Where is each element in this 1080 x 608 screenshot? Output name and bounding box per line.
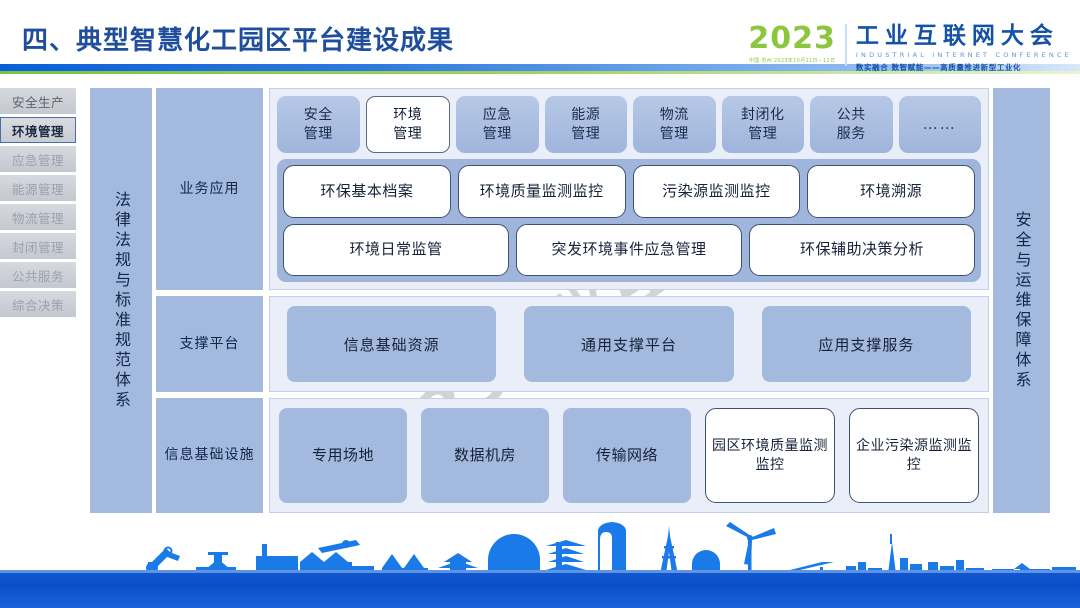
infrastructure-box-3[interactable]: 园区环境质量监测监控	[705, 408, 835, 503]
row-label-infrastructure: 信息基础设施	[156, 398, 263, 513]
infrastructure-box-2[interactable]: 传输网络	[563, 408, 691, 503]
sea-band	[0, 570, 1080, 608]
tab-5[interactable]: 封闭化管理	[722, 96, 805, 153]
business-module-panel: 环保基本档案环境质量监测监控污染源监测监控环境溯源环境日常监管突发环境事件应急管…	[277, 159, 981, 282]
right-pillar: 安全与运维保障体系	[993, 88, 1050, 513]
tab-0[interactable]: 安全管理	[277, 96, 360, 153]
row-infrastructure: 信息基础设施 专用场地数据机房传输网络园区环境质量监测监控企业污染源监测监控	[156, 398, 989, 513]
left-pillar-label: 法律法规与标准规范体系	[113, 191, 129, 411]
diagram-rows: 业务应用 安全管理环境管理应急管理能源管理物流管理封闭化管理公共服务…… 环保基…	[156, 88, 989, 513]
tab-3[interactable]: 能源管理	[545, 96, 628, 153]
tab-6[interactable]: 公共服务	[810, 96, 893, 153]
sidebar-item-0[interactable]: 安全生产	[0, 88, 76, 114]
logo-year: 2023	[748, 24, 836, 54]
sidebar-item-1[interactable]: 环境管理	[0, 117, 76, 143]
right-pillar-label: 安全与运维保障体系	[1014, 211, 1030, 391]
row-body-business: 安全管理环境管理应急管理能源管理物流管理封闭化管理公共服务…… 环保基本档案环境…	[269, 88, 989, 290]
domain-tabs[interactable]: 安全管理环境管理应急管理能源管理物流管理封闭化管理公共服务……	[277, 96, 981, 153]
sidebar-menu[interactable]: 安全生产环境管理应急管理能源管理物流管理封闭管理公共服务综合决策	[0, 88, 76, 320]
architecture-diagram: 法律法规与标准规范体系 安全与运维保障体系 业务应用 安全管理环境管理应急管理能…	[90, 88, 1050, 513]
conference-logo: 2023 中国·苏州 2023年10月11日－12日 工业互联网大会 INDUS…	[748, 24, 1072, 70]
slide-header: 四、典型智慧化工园区平台建设成果 2023 中国·苏州 2023年10月11日－…	[0, 0, 1080, 72]
business-module-0-1[interactable]: 环境质量监测监控	[458, 165, 626, 218]
tab-1[interactable]: 环境管理	[366, 96, 451, 153]
row-body-infrastructure: 专用场地数据机房传输网络园区环境质量监测监控企业污染源监测监控	[269, 398, 989, 513]
sidebar-item-7[interactable]: 综合决策	[0, 291, 76, 317]
business-module-1-1[interactable]: 突发环境事件应急管理	[516, 224, 742, 277]
logo-name-cn: 工业互联网大会	[856, 24, 1072, 49]
logo-slogan: 数实融合 数智赋能——高质量推进新型工业化	[856, 62, 1072, 73]
row-business-application: 业务应用 安全管理环境管理应急管理能源管理物流管理封闭化管理公共服务…… 环保基…	[156, 88, 989, 290]
row-body-platform: 信息基础资源通用支撑平台应用支撑服务	[269, 296, 989, 392]
skyline-graphic	[0, 518, 1080, 578]
tab-7[interactable]: ……	[899, 96, 982, 153]
business-module-0-0[interactable]: 环保基本档案	[283, 165, 451, 218]
business-module-0-2[interactable]: 污染源监测监控	[633, 165, 801, 218]
business-module-1-2[interactable]: 环保辅助决策分析	[749, 224, 975, 277]
logo-name-en: INDUSTRIAL INTERNET CONFERENCE	[856, 51, 1072, 59]
logo-divider	[845, 24, 847, 66]
tab-2[interactable]: 应急管理	[456, 96, 539, 153]
footer-skyline	[0, 518, 1080, 608]
business-module-1-0[interactable]: 环境日常监管	[283, 224, 509, 277]
sidebar-item-5[interactable]: 封闭管理	[0, 233, 76, 259]
slide-canvas: 四、典型智慧化工园区平台建设成果 2023 中国·苏州 2023年10月11日－…	[0, 0, 1080, 608]
logo-text-block: 工业互联网大会 INDUSTRIAL INTERNET CONFERENCE 数…	[856, 24, 1072, 73]
infrastructure-box-row: 专用场地数据机房传输网络园区环境质量监测监控企业污染源监测监控	[277, 406, 981, 505]
logo-date: 中国·苏州 2023年10月11日－12日	[748, 57, 836, 64]
row-support-platform: 支撑平台 信息基础资源通用支撑平台应用支撑服务	[156, 296, 989, 392]
platform-box-1[interactable]: 通用支撑平台	[524, 306, 733, 382]
logo-year-block: 2023 中国·苏州 2023年10月11日－12日	[748, 24, 845, 64]
infrastructure-box-4[interactable]: 企业污染源监测监控	[849, 408, 979, 503]
page-title: 四、典型智慧化工园区平台建设成果	[22, 20, 454, 57]
row-label-platform: 支撑平台	[156, 296, 263, 392]
sidebar-item-6[interactable]: 公共服务	[0, 262, 76, 288]
capsule-row-1: 环境日常监管突发环境事件应急管理环保辅助决策分析	[283, 224, 975, 277]
left-pillar: 法律法规与标准规范体系	[90, 88, 152, 513]
platform-box-0[interactable]: 信息基础资源	[287, 306, 496, 382]
infrastructure-box-0[interactable]: 专用场地	[279, 408, 407, 503]
sidebar-item-4[interactable]: 物流管理	[0, 204, 76, 230]
platform-box-2[interactable]: 应用支撑服务	[762, 306, 971, 382]
business-module-0-3[interactable]: 环境溯源	[807, 165, 975, 218]
platform-box-row: 信息基础资源通用支撑平台应用支撑服务	[277, 304, 981, 384]
sidebar-item-2[interactable]: 应急管理	[0, 146, 76, 172]
tab-4[interactable]: 物流管理	[633, 96, 716, 153]
capsule-row-0: 环保基本档案环境质量监测监控污染源监测监控环境溯源	[283, 165, 975, 218]
sidebar-item-3[interactable]: 能源管理	[0, 175, 76, 201]
row-label-business: 业务应用	[156, 88, 263, 290]
infrastructure-box-1[interactable]: 数据机房	[421, 408, 549, 503]
